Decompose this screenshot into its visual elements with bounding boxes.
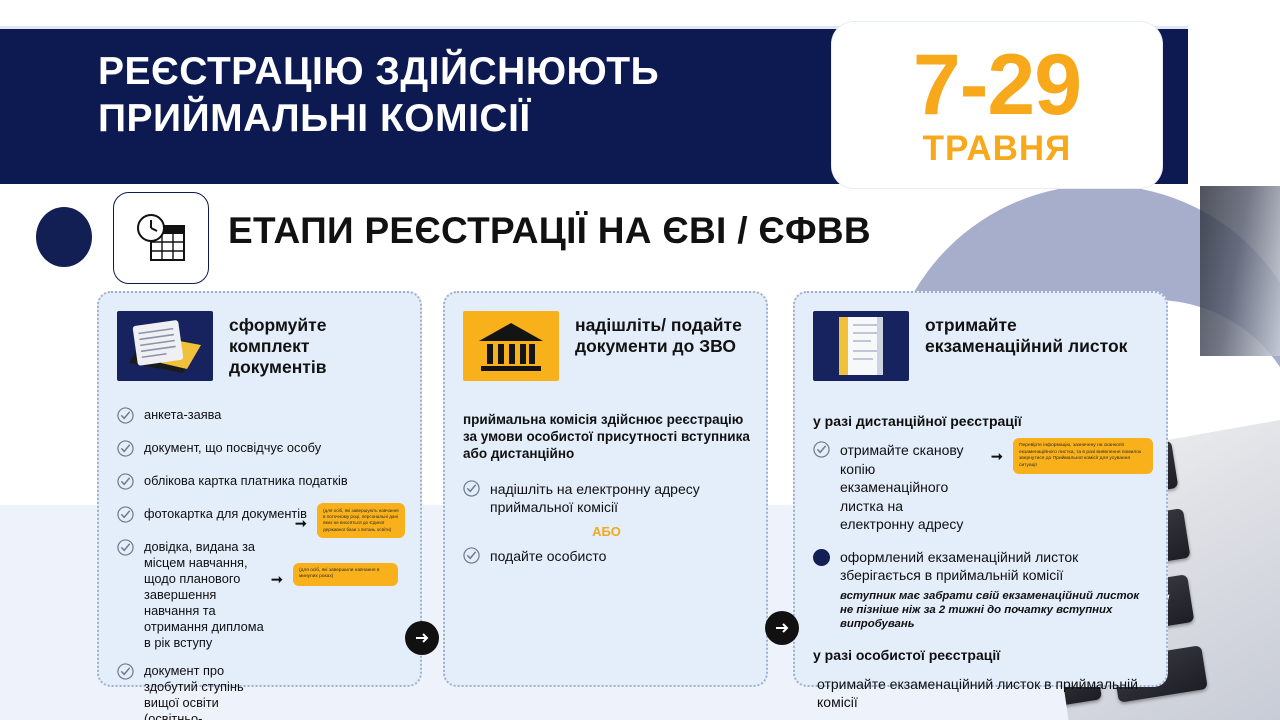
- note-arrow-icon: ➞: [295, 515, 307, 532]
- list-item: надішліть на електронну адресу приймальн…: [463, 480, 750, 516]
- list-item-text: анкета-заява: [144, 407, 404, 428]
- list-item: оформлений екзаменаційний листок зберіга…: [813, 548, 1150, 631]
- card-title: надішліть/ подайте документи до ЗВО: [575, 311, 752, 357]
- list-item-text: документ про здобутий ступінь вищої осві…: [144, 663, 274, 720]
- date-month: ТРАВНЯ: [923, 130, 1072, 168]
- subheading-personal: у разі особистої реєстрації: [813, 647, 1150, 663]
- card-lead-text: приймальна комісія здійснює реєстрацію з…: [463, 411, 750, 462]
- infographic-slide: R T F G C V РЕЄСТРАЦІЮ ЗДІЙСНЮЮТЬ ПРИЙМА…: [0, 0, 1280, 720]
- note-arrow-icon: ➞: [991, 448, 1003, 465]
- header-corner-cut: [1188, 0, 1280, 186]
- card-header: надішліть/ подайте документи до ЗВО: [445, 293, 766, 381]
- list-item: анкета-заява: [117, 407, 404, 428]
- list-item: документ про здобутий ступінь вищої осві…: [117, 663, 404, 720]
- page-title-line-1: РЕЄСТРАЦІЮ ЗДІЙСНЮЮТЬ: [98, 48, 818, 95]
- laptop-edge-photo: [1200, 186, 1280, 356]
- exam-sheet-image: [813, 311, 909, 381]
- list-item-text: облікова картка платника податків: [144, 473, 404, 494]
- list-item-text: оформлений екзаменаційний листок зберіга…: [840, 548, 1150, 585]
- page-title: РЕЄСТРАЦІЮ ЗДІЙСНЮЮТЬ ПРИЙМАЛЬНІ КОМІСІЇ: [98, 48, 818, 142]
- date-badge: 7-29 ТРАВНЯ: [832, 22, 1162, 188]
- list-item: облікова картка платника податків: [117, 473, 404, 494]
- step-card-submit: надішліть/ подайте документи до ЗВО прий…: [443, 291, 768, 687]
- date-range: 7-29: [913, 42, 1081, 128]
- list-item-text: довідка, видана за місцем навчання, щодо…: [144, 539, 274, 651]
- check-circle-icon: [463, 547, 480, 568]
- note-callout: (для осіб, які завершили навчання в мину…: [293, 563, 398, 586]
- card-body: анкета-заява документ, що посвідчує особ…: [99, 381, 420, 720]
- or-separator: АБО: [463, 524, 750, 539]
- check-circle-icon: [117, 506, 134, 527]
- check-circle-icon: [813, 441, 830, 534]
- check-circle-icon: [117, 663, 134, 720]
- check-circle-icon: [117, 539, 134, 651]
- bank-institution-image: [463, 311, 559, 381]
- note-callout: (для осіб, які завершують навчання в пот…: [317, 503, 405, 538]
- note-text: (для осіб, які завершують навчання в пот…: [323, 508, 399, 532]
- list-item-text: надішліть на електронну адресу приймальн…: [490, 480, 750, 516]
- card-header: отримайте екзаменаційний листок: [795, 293, 1166, 381]
- page-title-line-2: ПРИЙМАЛЬНІ КОМІСІЇ: [98, 95, 818, 142]
- list-item: довідка, видана за місцем навчання, щодо…: [117, 539, 404, 651]
- list-item: подайте особисто: [463, 547, 750, 568]
- navy-bullet-icon: [813, 549, 830, 566]
- check-circle-icon: [117, 407, 134, 428]
- step-card-documents: сформуйте комплект документів анкета-зая…: [97, 291, 422, 687]
- card-header: сформуйте комплект документів: [99, 293, 420, 381]
- card-title: сформуйте комплект документів: [229, 311, 406, 378]
- section-title: ЕТАПИ РЕЄСТРАЦІЇ НА ЄВІ / ЄФВВ: [228, 210, 871, 252]
- note-text: (для осіб, які завершили навчання в мину…: [299, 568, 379, 579]
- list-item-text: подайте особисто: [490, 547, 750, 568]
- card-body: у разі дистанційної реєстрації отримайте…: [795, 381, 1166, 711]
- note-text: Перевірте інформацію, зазначену на сканк…: [1019, 443, 1141, 468]
- decorative-navy-dot: [36, 207, 92, 267]
- check-circle-icon: [117, 473, 134, 494]
- step-card-receive: отримайте екзаменаційний листок у разі д…: [793, 291, 1168, 687]
- note-arrow-icon: ➞: [271, 571, 283, 588]
- calendar-clock-icon: [113, 192, 209, 284]
- check-circle-icon: [117, 440, 134, 461]
- next-step-arrow-2[interactable]: [765, 611, 799, 645]
- checklist: надішліть на електронну адресу приймальн…: [463, 480, 750, 568]
- subheading-remote: у разі дистанційної реєстрації: [813, 413, 1150, 429]
- list-item-italic-note: вступник має забрати свій екзаменаційний…: [840, 589, 1150, 631]
- documents-folder-image: [117, 311, 213, 381]
- list-item-text: документ, що посвідчує особу: [144, 440, 404, 461]
- list-item: документ, що посвідчує особу: [117, 440, 404, 461]
- card-title: отримайте екзаменаційний листок: [925, 311, 1152, 357]
- personal-registration-text: отримайте екзаменаційний листок в прийма…: [817, 675, 1150, 711]
- note-callout: Перевірте інформацію, зазначену на сканк…: [1013, 438, 1153, 474]
- list-item-text: отримайте сканову копію екзаменаційного …: [840, 441, 965, 534]
- card-body: приймальна комісія здійснює реєстрацію з…: [445, 381, 766, 568]
- next-step-arrow-1[interactable]: [405, 621, 439, 655]
- check-circle-icon: [463, 480, 480, 516]
